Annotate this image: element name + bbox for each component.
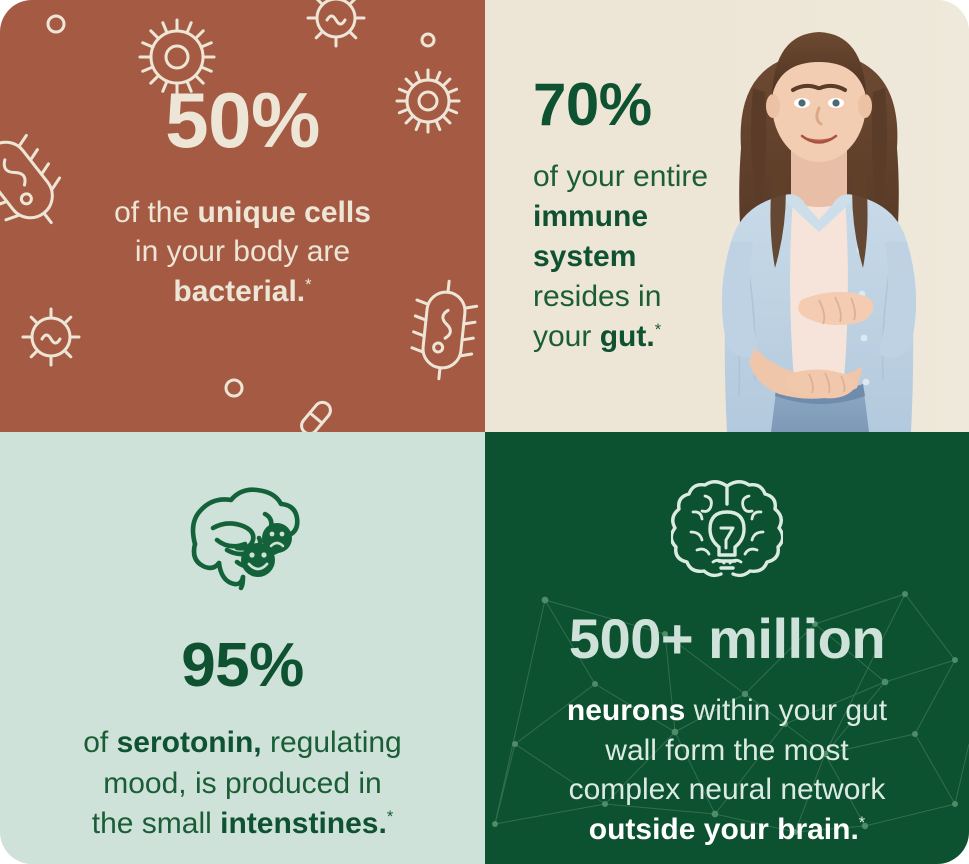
- panel-bacteria-stat: 50% of the unique cells in your body are…: [0, 0, 485, 432]
- neurons-line4-bold: outside your brain.: [589, 813, 859, 846]
- bacteria-line1-bold: unique cells: [198, 196, 371, 229]
- bacteria-line2: in your body are: [135, 235, 350, 268]
- panel-neurons-stat: 500+ million neurons within your gut wal…: [485, 432, 969, 864]
- serotonin-line1-tail: regulating: [262, 726, 402, 759]
- immune-line2-bold: immune: [533, 200, 648, 233]
- brain-lightbulb-icon: [671, 474, 783, 583]
- serotonin-stat-number: 95%: [181, 635, 304, 697]
- bacteria-text-block: 50% of the unique cells in your body are…: [0, 0, 485, 432]
- bacteria-stat-body: of the unique cells in your body are bac…: [114, 193, 371, 312]
- neurons-line3: complex neural network: [569, 773, 886, 806]
- neurons-line1-bold: neurons: [567, 694, 685, 727]
- immune-line5-plain: your: [533, 320, 600, 353]
- immune-line4: resides in: [533, 280, 661, 313]
- serotonin-line1-bold: serotonin,: [117, 726, 262, 759]
- bacteria-footnote-marker: *: [305, 276, 311, 294]
- panel-serotonin-stat: 95% of serotonin, regulating mood, is pr…: [0, 432, 485, 864]
- serotonin-text-block: 95% of serotonin, regulating mood, is pr…: [0, 432, 485, 864]
- happy-face-icon: [241, 543, 275, 577]
- neurons-footnote-marker: *: [859, 814, 865, 832]
- neurons-text-block: 500+ million neurons within your gut wal…: [485, 432, 969, 864]
- immune-line1: of your entire: [533, 160, 708, 193]
- neurons-line1-tail: within your gut: [685, 694, 887, 727]
- serotonin-line3-bold: intenstines.: [220, 807, 387, 840]
- neurons-stat-number: 500+ million: [569, 611, 885, 667]
- immune-text-block: 70% of your entire immune system resides…: [485, 0, 755, 432]
- bacteria-line1-plain: of the: [114, 196, 197, 229]
- bacteria-line3-bold: bacterial.: [173, 275, 305, 308]
- serotonin-stat-body: of serotonin, regulating mood, is produc…: [83, 723, 401, 845]
- neurons-stat-body: neurons within your gut wall form the mo…: [567, 691, 887, 849]
- intestine-mood-icon: [179, 482, 307, 597]
- neurons-line2: wall form the most: [605, 734, 848, 767]
- immune-stat-body: of your entire immune system resides in …: [533, 157, 755, 356]
- serotonin-line1-plain: of: [83, 726, 116, 759]
- immune-stat-number: 70%: [533, 75, 755, 135]
- serotonin-footnote-marker: *: [387, 808, 393, 826]
- immune-footnote-marker: *: [655, 321, 661, 339]
- gut-health-infographic: 50% of the unique cells in your body are…: [0, 0, 969, 864]
- serotonin-line3-plain: the small: [92, 807, 220, 840]
- bacteria-stat-number: 50%: [165, 81, 320, 159]
- immune-line3-bold: system: [533, 240, 636, 273]
- immune-line5-bold: gut.: [600, 320, 655, 353]
- serotonin-line2: mood, is produced in: [103, 767, 382, 800]
- panel-immune-stat: 70% of your entire immune system resides…: [485, 0, 969, 432]
